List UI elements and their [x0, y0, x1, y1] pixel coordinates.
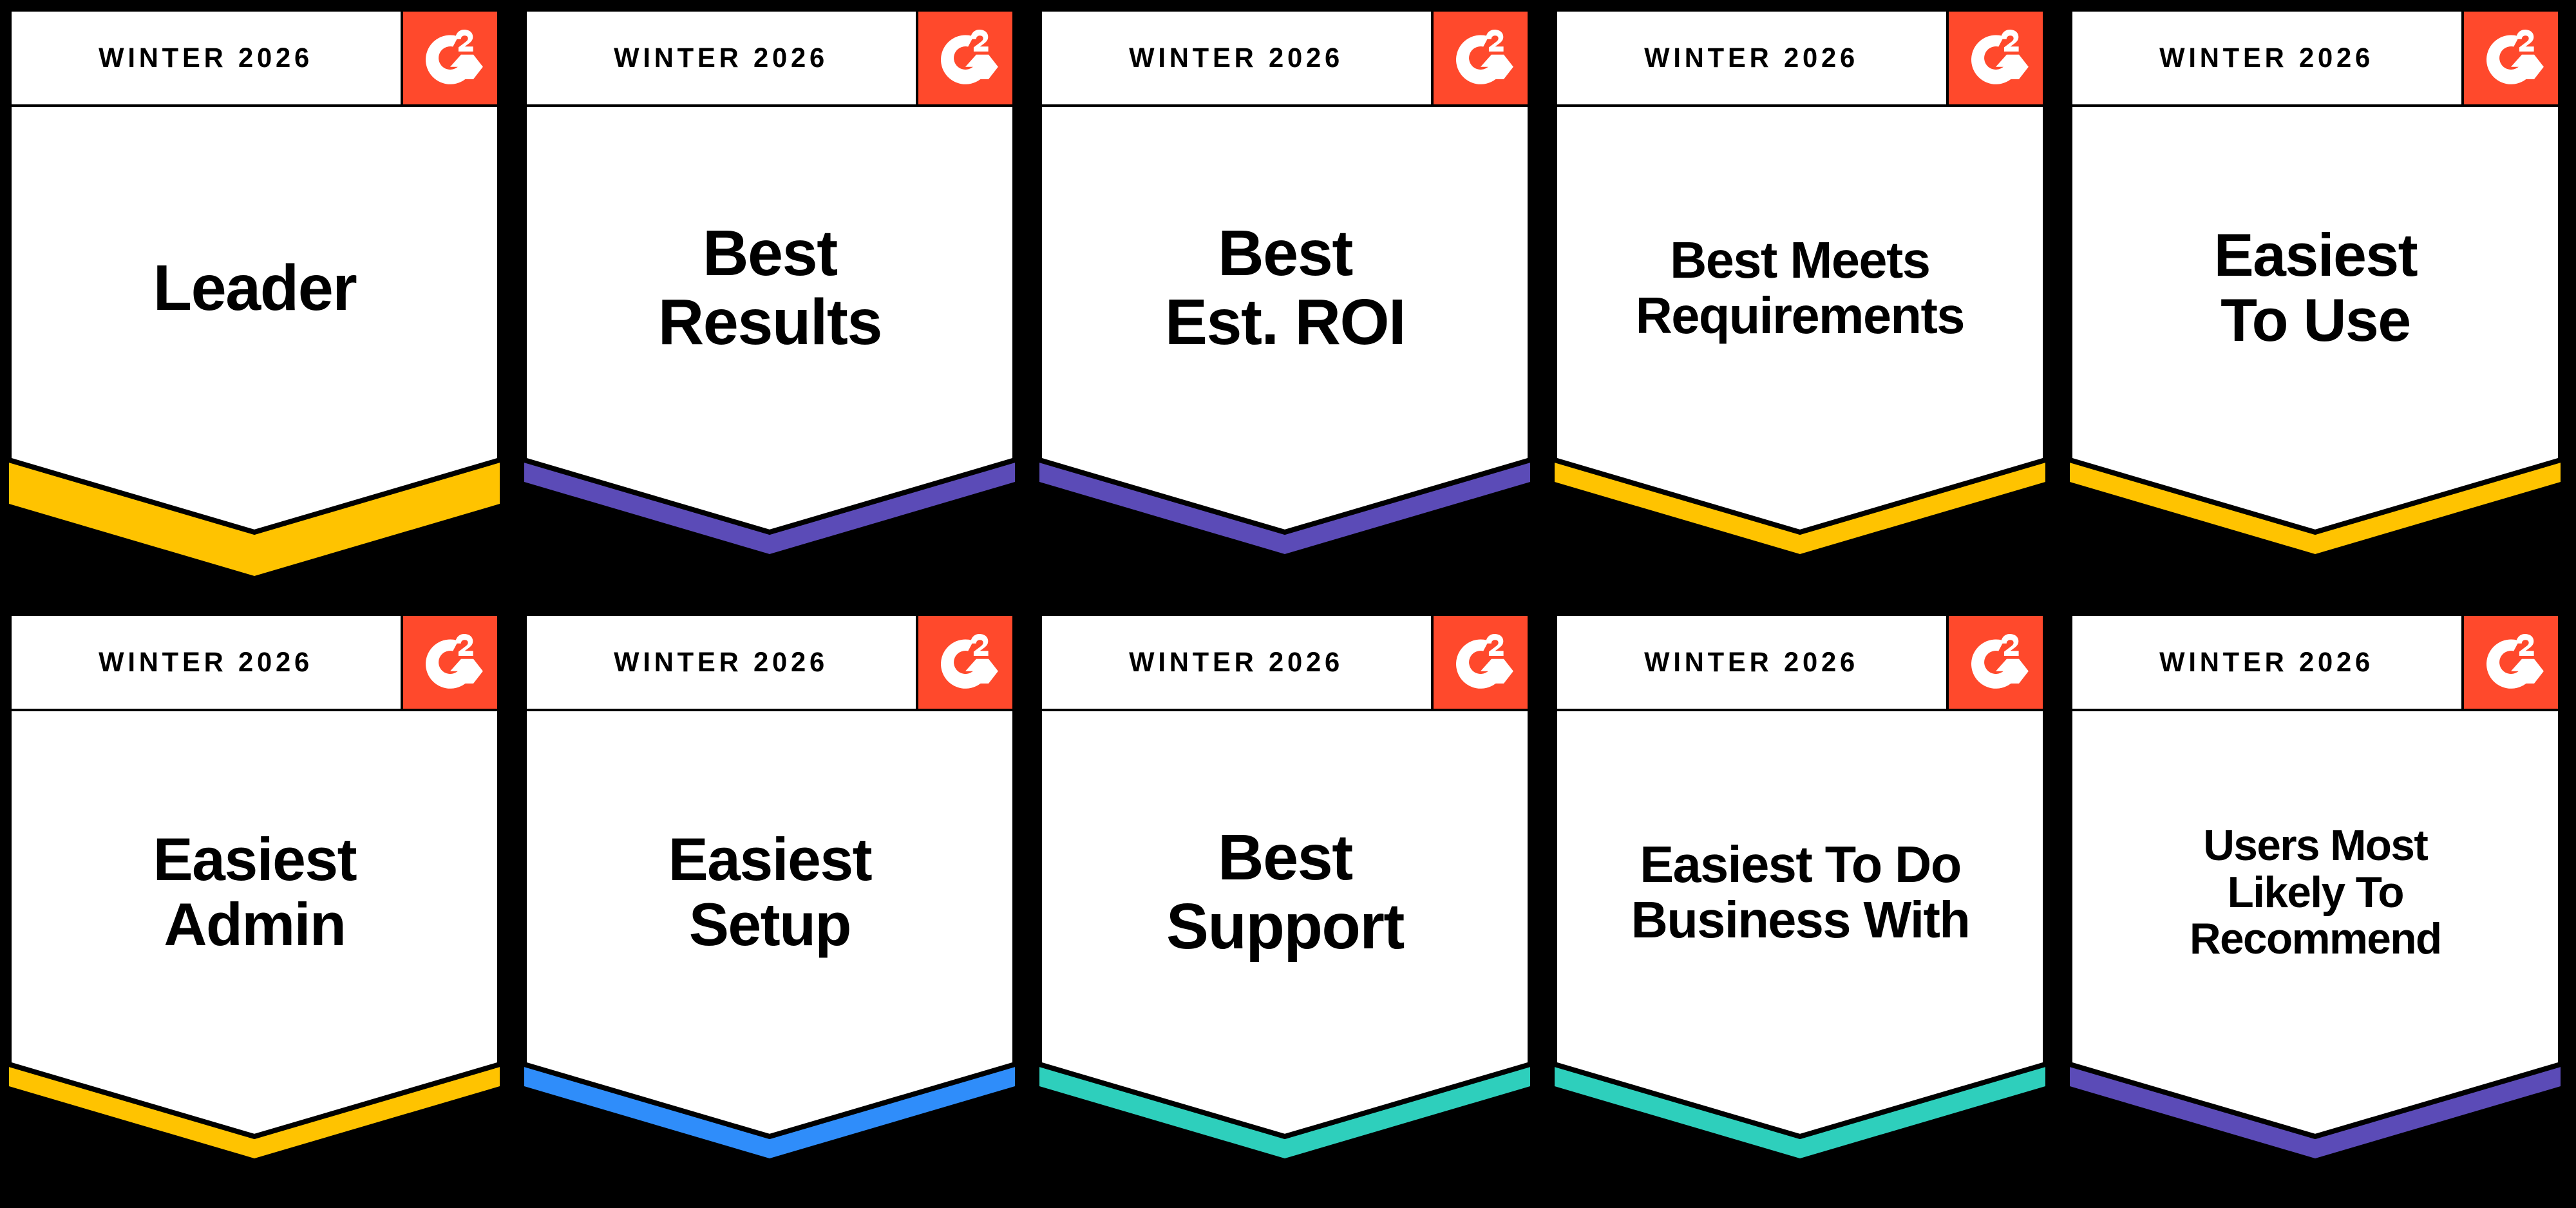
badge-period-label: WINTER 2026: [99, 647, 314, 678]
badge-shield: [524, 709, 1015, 1183]
badge-best-support[interactable]: WINTER 2026Best Support: [1030, 604, 1546, 1208]
badge-body: Leader: [9, 104, 500, 579]
badge-header: WINTER 2026: [524, 613, 1015, 711]
badge-period-box: WINTER 2026: [1555, 9, 1947, 107]
badge-inner: WINTER 2026Best Est. ROI: [1039, 9, 1530, 576]
badge-period-box: WINTER 2026: [9, 613, 402, 711]
badge-easiest-to-use[interactable]: WINTER 2026Easiest To Use: [2061, 0, 2576, 604]
g2-logo-mark: [1962, 24, 2030, 92]
badge-header: WINTER 2026: [524, 9, 1015, 107]
badge-period-box: WINTER 2026: [1039, 613, 1432, 711]
badge-inner: WINTER 2026Best Support: [1039, 613, 1530, 1180]
badge-header: WINTER 2026: [1039, 9, 1530, 107]
g2-badge-grid: WINTER 2026LeaderWINTER 2026Best Results…: [0, 0, 2576, 1208]
badge-shield: [9, 709, 500, 1183]
badge-period-box: WINTER 2026: [524, 9, 917, 107]
g2-logo-tile[interactable]: [1947, 9, 2045, 107]
badge-shield: [2070, 709, 2561, 1183]
badge-period-box: WINTER 2026: [1555, 613, 1947, 711]
badge-header: WINTER 2026: [9, 613, 500, 711]
g2-logo-tile[interactable]: [1947, 613, 2045, 711]
badge-shield: [1555, 709, 2045, 1183]
badge-shield: [524, 104, 1015, 579]
badge-users-most-likely-to-recommend[interactable]: WINTER 2026Users Most Likely To Recommen…: [2061, 604, 2576, 1208]
g2-logo-tile[interactable]: [402, 9, 500, 107]
badge-period-label: WINTER 2026: [614, 43, 829, 74]
badge-body: Best Results: [524, 104, 1015, 579]
badge-body: Best Support: [1039, 709, 1530, 1183]
badge-period-box: WINTER 2026: [524, 613, 917, 711]
badge-inner: WINTER 2026Easiest Setup: [524, 613, 1015, 1180]
badge-header: WINTER 2026: [2070, 9, 2561, 107]
badge-body: Easiest To Use: [2070, 104, 2561, 579]
badge-inner: WINTER 2026Easiest To Use: [2070, 9, 2561, 576]
badge-body: Best Meets Requirements: [1555, 104, 2045, 579]
g2-logo-tile[interactable]: [917, 9, 1015, 107]
badge-body: Easiest To Do Business With: [1555, 709, 2045, 1183]
g2-logo-tile[interactable]: [1432, 9, 1530, 107]
badge-header: WINTER 2026: [1555, 9, 2045, 107]
g2-logo-tile[interactable]: [2463, 9, 2561, 107]
g2-logo-mark: [416, 628, 484, 696]
badge-easiest-setup[interactable]: WINTER 2026Easiest Setup: [515, 604, 1030, 1208]
g2-logo-tile[interactable]: [402, 613, 500, 711]
g2-logo-tile[interactable]: [917, 613, 1015, 711]
badge-period-label: WINTER 2026: [99, 43, 314, 74]
g2-logo-tile[interactable]: [1432, 613, 1530, 711]
g2-logo-mark: [1446, 24, 1515, 92]
g2-logo-mark: [1446, 628, 1515, 696]
badge-body: Easiest Admin: [9, 709, 500, 1183]
badge-header: WINTER 2026: [2070, 613, 2561, 711]
badge-period-box: WINTER 2026: [2070, 9, 2463, 107]
badge-period-box: WINTER 2026: [2070, 613, 2463, 711]
badge-period-label: WINTER 2026: [2160, 43, 2374, 74]
badge-period-label: WINTER 2026: [1645, 647, 1859, 678]
badge-easiest-admin[interactable]: WINTER 2026Easiest Admin: [0, 604, 515, 1208]
badge-shield: [1039, 709, 1530, 1183]
badge-best-results[interactable]: WINTER 2026Best Results: [515, 0, 1030, 604]
g2-logo-mark: [1962, 628, 2030, 696]
badge-header: WINTER 2026: [9, 9, 500, 107]
badge-inner: WINTER 2026Best Meets Requirements: [1555, 9, 2045, 576]
badge-period-box: WINTER 2026: [9, 9, 402, 107]
badge-best-est-roi[interactable]: WINTER 2026Best Est. ROI: [1030, 0, 1546, 604]
badge-inner: WINTER 2026Leader: [9, 9, 500, 576]
badge-inner: WINTER 2026Easiest Admin: [9, 613, 500, 1180]
badge-period-label: WINTER 2026: [1130, 647, 1344, 678]
badge-period-label: WINTER 2026: [1130, 43, 1344, 74]
g2-logo-mark: [931, 24, 999, 92]
badge-period-label: WINTER 2026: [1645, 43, 1859, 74]
badge-shield: [1555, 104, 2045, 579]
badge-inner: WINTER 2026Easiest To Do Business With: [1555, 613, 2045, 1180]
badge-shield: [1039, 104, 1530, 579]
badge-header: WINTER 2026: [1555, 613, 2045, 711]
badge-header: WINTER 2026: [1039, 613, 1530, 711]
g2-logo-mark: [416, 24, 484, 92]
g2-logo-tile[interactable]: [2463, 613, 2561, 711]
badge-body: Easiest Setup: [524, 709, 1015, 1183]
badge-inner: WINTER 2026Best Results: [524, 9, 1015, 576]
g2-logo-mark: [2477, 628, 2545, 696]
badge-period-label: WINTER 2026: [614, 647, 829, 678]
badge-period-box: WINTER 2026: [1039, 9, 1432, 107]
badge-inner: WINTER 2026Users Most Likely To Recommen…: [2070, 613, 2561, 1180]
badge-shield: [9, 104, 500, 579]
badge-best-meets-requirements[interactable]: WINTER 2026Best Meets Requirements: [1546, 0, 2061, 604]
g2-logo-mark: [931, 628, 999, 696]
badge-body: Best Est. ROI: [1039, 104, 1530, 579]
badge-easiest-to-do-business-with[interactable]: WINTER 2026Easiest To Do Business With: [1546, 604, 2061, 1208]
badge-body: Users Most Likely To Recommend: [2070, 709, 2561, 1183]
badge-leader[interactable]: WINTER 2026Leader: [0, 0, 515, 604]
badge-period-label: WINTER 2026: [2160, 647, 2374, 678]
badge-shield: [2070, 104, 2561, 579]
g2-logo-mark: [2477, 24, 2545, 92]
